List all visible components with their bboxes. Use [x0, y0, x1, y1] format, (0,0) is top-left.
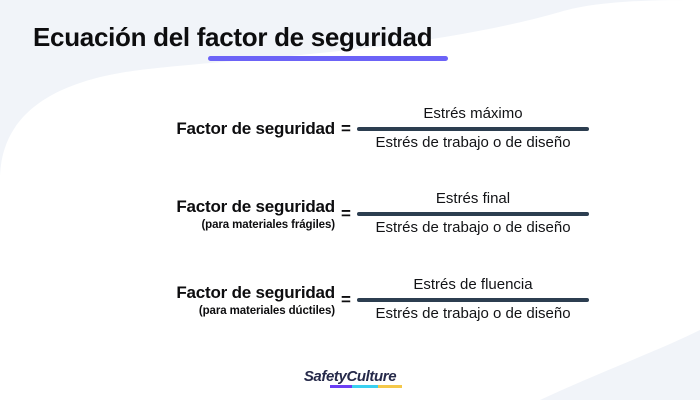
- footer-logo: SafetyCulture: [0, 368, 700, 386]
- formula-3-label-group: Factor de seguridad (para materiales dúc…: [0, 283, 335, 317]
- formula-3-equals: =: [335, 290, 357, 310]
- page-title-wrap: Ecuación del factor de seguridad: [33, 22, 432, 53]
- formula-1-numerator: Estrés máximo: [357, 104, 589, 124]
- formula-2-label: Factor de seguridad: [0, 197, 335, 217]
- formula-row-2: Factor de seguridad (para materiales frá…: [0, 189, 700, 239]
- formula-1-label: Factor de seguridad: [0, 119, 335, 139]
- formula-row-3: Factor de seguridad (para materiales dúc…: [0, 275, 700, 325]
- brand-underline-icon: [330, 385, 402, 388]
- formula-2-sublabel: (para materiales frágiles): [0, 219, 335, 231]
- infographic-canvas: Ecuación del factor de seguridad Factor …: [0, 0, 700, 400]
- formula-row-1: Factor de seguridad = Estrés máximo Estr…: [0, 104, 700, 154]
- brand-name-second: Culture: [346, 368, 396, 385]
- formula-2-label-group: Factor de seguridad (para materiales frá…: [0, 197, 335, 231]
- formula-2-fraction: Estrés final Estrés de trabajo o de dise…: [357, 189, 589, 239]
- formula-3-sublabel: (para materiales dúctiles): [0, 305, 335, 317]
- formula-2-numerator: Estrés final: [357, 189, 589, 209]
- formula-1-label-group: Factor de seguridad: [0, 119, 335, 139]
- formula-3-numerator: Estrés de fluencia: [357, 275, 589, 295]
- formula-3-fraction: Estrés de fluencia Estrés de trabajo o d…: [357, 275, 589, 325]
- brand-underline-yellow: [378, 385, 402, 388]
- page-title: Ecuación del factor de seguridad: [33, 22, 432, 53]
- formula-1-denominator: Estrés de trabajo o de diseño: [357, 133, 589, 153]
- formula-1-equals: =: [335, 119, 357, 139]
- formula-2-denominator: Estrés de trabajo o de diseño: [357, 218, 589, 238]
- brand-logo-wordmark: SafetyCulture: [304, 368, 396, 386]
- formula-2-fraction-bar: [357, 212, 589, 216]
- brand-underline-purple: [330, 385, 352, 388]
- formula-2-equals: =: [335, 204, 357, 224]
- formula-3-denominator: Estrés de trabajo o de diseño: [357, 304, 589, 324]
- formula-1-fraction-bar: [357, 127, 589, 131]
- brand-name-first: Safety: [304, 368, 347, 385]
- formula-3-label: Factor de seguridad: [0, 283, 335, 303]
- title-underline-accent: [208, 56, 448, 61]
- brand-underline-cyan: [352, 385, 378, 388]
- formula-3-fraction-bar: [357, 298, 589, 302]
- formula-1-fraction: Estrés máximo Estrés de trabajo o de dis…: [357, 104, 589, 154]
